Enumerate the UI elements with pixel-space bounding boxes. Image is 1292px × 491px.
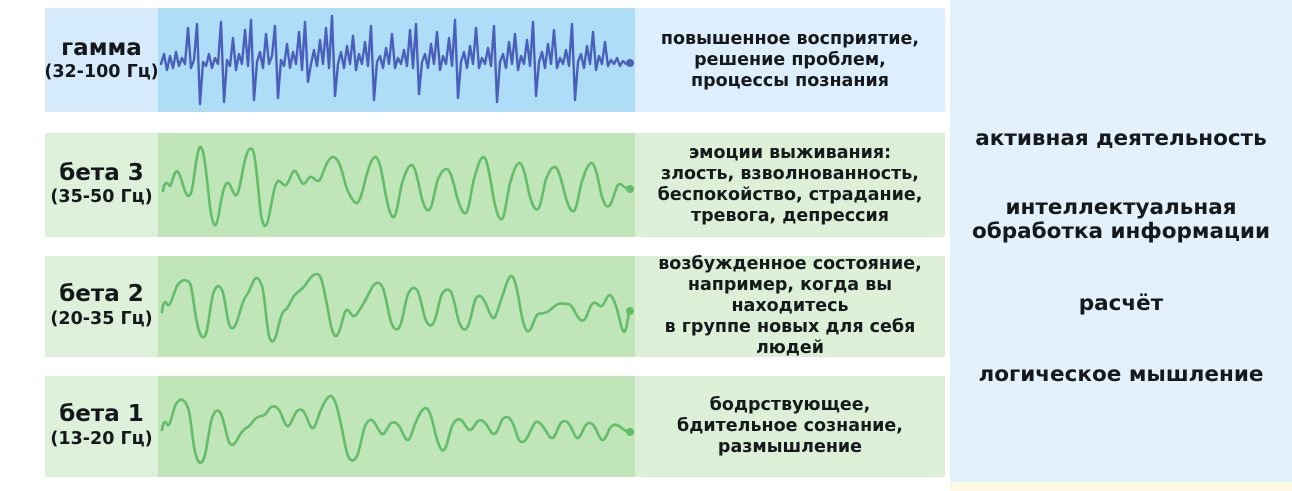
summary-panel: активная деятельность интеллектуальная о… <box>950 0 1292 482</box>
band-range: (13-20 Гц) <box>50 429 152 451</box>
waveform-beta2 <box>158 256 635 357</box>
band-name: бета 3 <box>59 161 144 186</box>
waveform-beta3-svg <box>158 133 635 237</box>
band-row-gamma: гамма (32-100 Гц) повышенное восприятие,… <box>45 8 945 112</box>
description-text: бодрствующее, бдительное сознание, размы… <box>667 395 913 458</box>
band-range: (35-50 Гц) <box>50 187 152 209</box>
summary-item-3: логическое мышление <box>956 363 1286 388</box>
waveform-beta1-path <box>162 396 629 463</box>
band-description-beta1: бодрствующее, бдительное сознание, размы… <box>635 376 945 477</box>
waveform-beta2-svg <box>158 256 635 357</box>
summary-item-1: интеллектуальная обработка информации <box>956 196 1286 245</box>
waveform-gamma-svg <box>158 8 635 112</box>
waveform-gamma-path <box>161 16 629 104</box>
waveform-beta3 <box>158 133 635 237</box>
band-description-gamma: повышенное восприятие, решение проблем, … <box>635 8 945 112</box>
waveform-gamma-endpoint <box>626 59 634 67</box>
band-range: (32-100 Гц) <box>44 62 158 84</box>
band-label-beta2: бета 2 (20-35 Гц) <box>45 256 158 357</box>
description-text: эмоции выживания: злость, взволнованност… <box>648 143 933 227</box>
band-row-beta3: бета 3 (35-50 Гц) эмоции выживания: злос… <box>45 133 945 237</box>
waveform-beta2-path <box>162 274 629 342</box>
waveform-beta1-endpoint <box>626 428 634 436</box>
band-description-beta2: возбужденное состояние, например, когда … <box>635 256 945 357</box>
waveform-beta1 <box>158 376 635 477</box>
waveform-beta2-endpoint <box>626 307 634 315</box>
band-row-beta1: бета 1 (13-20 Гц) бодрствующее, бдительн… <box>45 376 945 477</box>
band-label-beta1: бета 1 (13-20 Гц) <box>45 376 158 477</box>
waveform-gamma <box>158 8 635 112</box>
bottom-accent-strip <box>950 482 1292 491</box>
waveform-beta1-svg <box>158 376 635 477</box>
band-label-gamma: гамма (32-100 Гц) <box>45 8 158 112</box>
band-row-beta2: бета 2 (20-35 Гц) возбужденное состояние… <box>45 256 945 357</box>
band-label-beta3: бета 3 (35-50 Гц) <box>45 133 158 237</box>
description-text: повышенное восприятие, решение проблем, … <box>651 29 929 92</box>
waveform-beta3-path <box>163 147 629 226</box>
band-name: бета 1 <box>59 402 144 427</box>
band-range: (20-35 Гц) <box>50 309 152 331</box>
description-text: возбужденное состояние, например, когда … <box>635 254 945 359</box>
summary-item-2: расчёт <box>956 292 1286 317</box>
summary-item-0: активная деятельность <box>956 127 1286 152</box>
band-name: гамма <box>61 36 142 61</box>
waveform-beta3-endpoint <box>626 185 634 193</box>
band-description-beta3: эмоции выживания: злость, взволнованност… <box>635 133 945 237</box>
band-name: бета 2 <box>59 282 144 307</box>
